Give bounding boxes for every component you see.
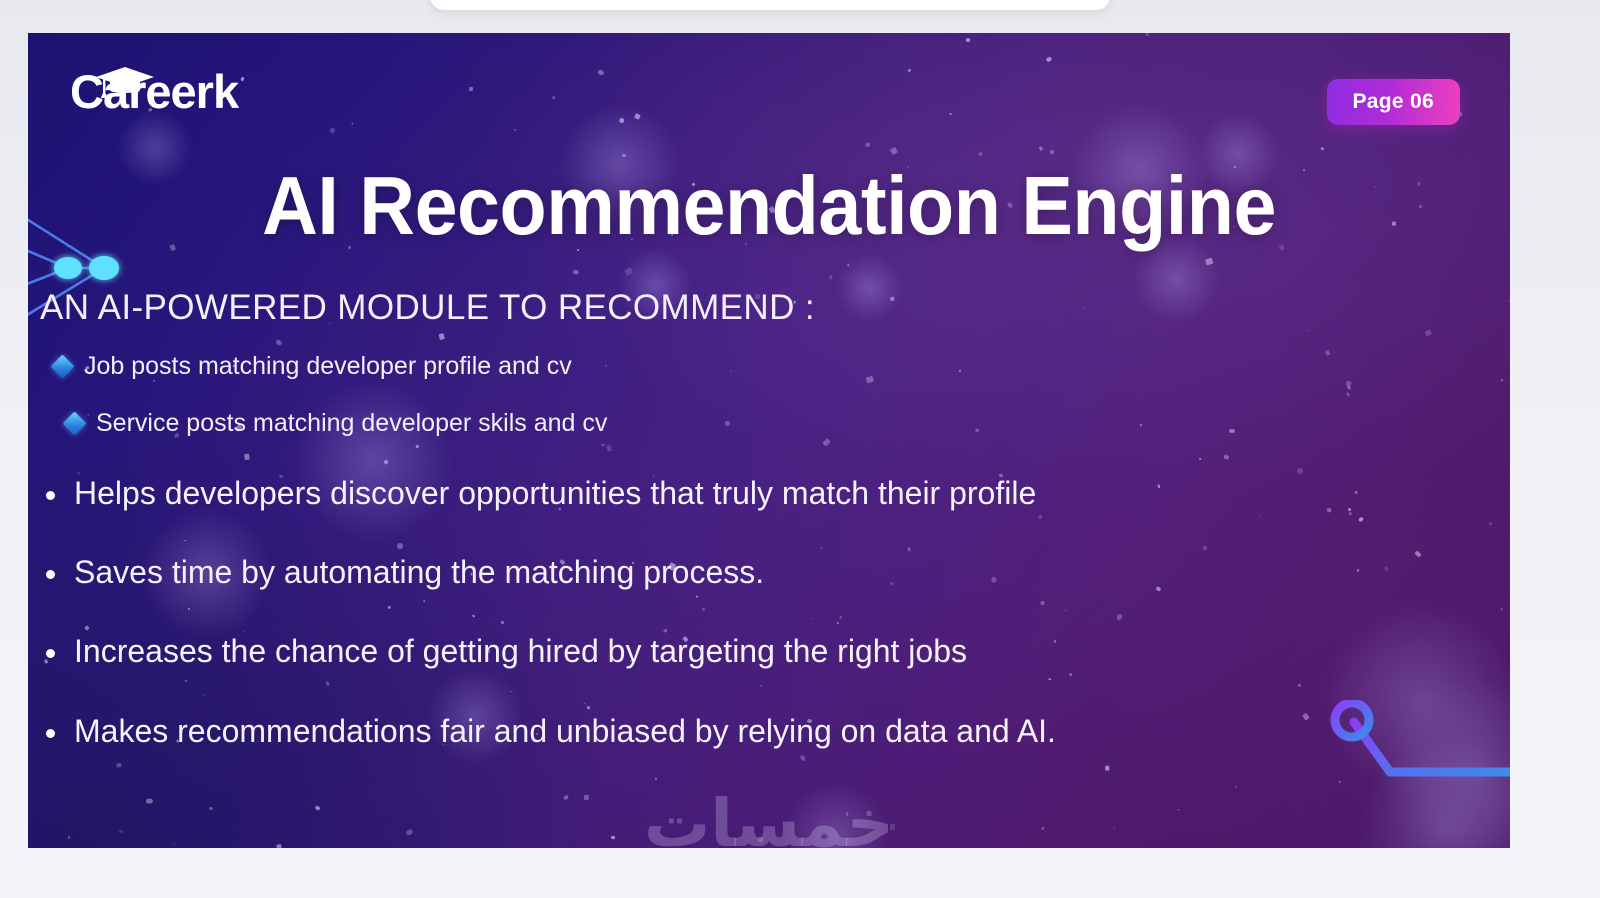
benefits-bullet-list: Helps developers discover opportunities … — [46, 476, 1470, 749]
list-item: Makes recommendations fair and unbiased … — [46, 714, 1470, 749]
list-item: Job posts matching developer profile and… — [54, 352, 1470, 381]
list-item: Increases the chance of getting hired by… — [46, 634, 1470, 669]
list-item: Helps developers discover opportunities … — [46, 476, 1470, 511]
list-item: Service posts matching developer skils a… — [66, 409, 1470, 438]
slide-canvas[interactable]: Careerk Page 06 AI Recommendation Engine… — [28, 33, 1510, 848]
slide-body: AN AI-POWERED MODULE TO RECOMMEND : Job … — [38, 288, 1470, 793]
page-number-badge[interactable]: Page 06 — [1327, 79, 1461, 125]
graduation-cap-icon — [94, 65, 156, 99]
dot-bullet-icon — [46, 649, 55, 658]
dot-bullet-icon — [46, 570, 55, 579]
diamond-bullet-icon — [50, 354, 74, 378]
list-item-label: Makes recommendations fair and unbiased … — [74, 714, 1056, 749]
list-item-label: Job posts matching developer profile and… — [84, 352, 572, 381]
subtitle: AN AI-POWERED MODULE TO RECOMMEND : — [38, 288, 1470, 328]
list-item-label: Service posts matching developer skils a… — [96, 409, 607, 438]
watermark: خمسات — [28, 785, 1510, 848]
dot-bullet-icon — [46, 729, 55, 738]
list-item-label: Saves time by automating the matching pr… — [74, 555, 764, 590]
list-item: Saves time by automating the matching pr… — [46, 555, 1470, 590]
dot-bullet-icon — [46, 491, 55, 500]
diamond-bullet-icon — [62, 411, 86, 435]
list-item-label: Helps developers discover opportunities … — [74, 476, 1036, 511]
diamond-bullet-list: Job posts matching developer profile and… — [54, 352, 1470, 438]
page-title: AI Recommendation Engine — [80, 158, 1458, 254]
previous-slide-panel[interactable] — [430, 0, 1110, 10]
brand-logo[interactable]: Careerk — [70, 68, 238, 115]
list-item-label: Increases the chance of getting hired by… — [74, 634, 967, 669]
